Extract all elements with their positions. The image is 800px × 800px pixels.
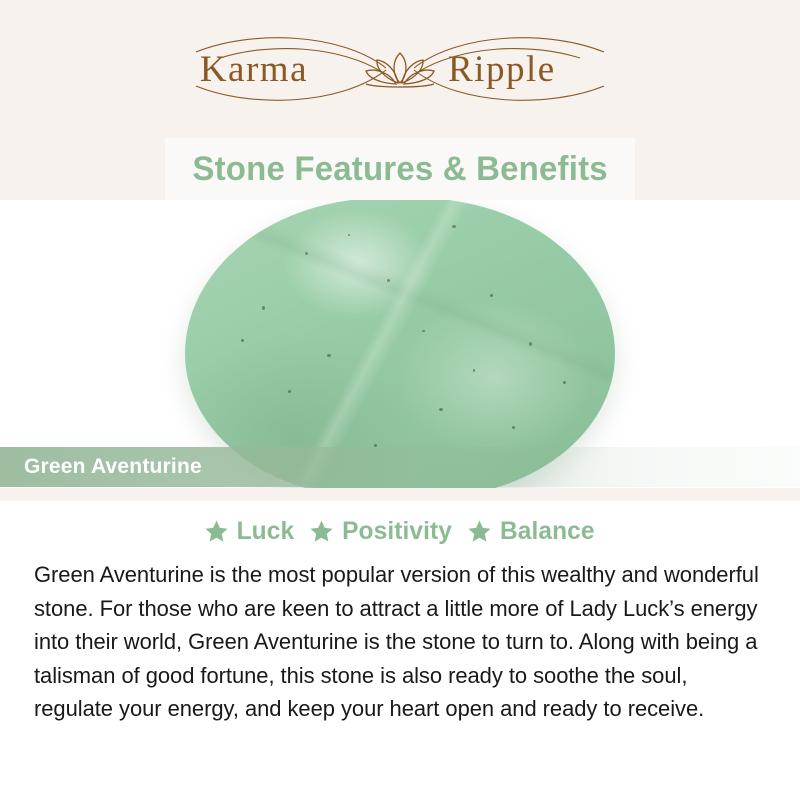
feature-item-positivity: Positivity bbox=[309, 517, 453, 546]
feature-label: Balance bbox=[500, 517, 595, 546]
brand-logo: Karma Ripple bbox=[0, 28, 800, 110]
star-icon bbox=[467, 519, 492, 544]
brand-logo-artwork: Karma Ripple bbox=[190, 28, 610, 110]
brand-name-right: Ripple bbox=[448, 49, 556, 90]
product-photo bbox=[0, 200, 800, 488]
aventurine-stone-image bbox=[185, 200, 615, 488]
feature-item-balance: Balance bbox=[467, 517, 596, 546]
feature-item-luck: Luck bbox=[204, 517, 295, 546]
feature-label: Luck bbox=[237, 517, 295, 546]
page-title-box: Stone Features & Benefits bbox=[165, 138, 635, 200]
star-icon bbox=[204, 519, 229, 544]
section-divider bbox=[0, 488, 800, 501]
brand-name-left: Karma bbox=[200, 49, 308, 90]
stone-description: Green Aventurine is the most popular ver… bbox=[34, 558, 765, 726]
star-icon bbox=[309, 519, 334, 544]
stone-info-card: Karma Ripple Stone Features & Benefits bbox=[0, 0, 800, 800]
page-title: Stone Features & Benefits bbox=[192, 150, 607, 189]
stone-name: Green Aventurine bbox=[0, 455, 202, 479]
feature-label: Positivity bbox=[342, 517, 452, 546]
feature-list: Luck Positivity Balance bbox=[0, 517, 800, 546]
stone-name-banner: Green Aventurine bbox=[0, 447, 800, 487]
description-panel: Luck Positivity Balance Green Aventurine… bbox=[0, 501, 800, 800]
header-band: Karma Ripple Stone Features & Benefits bbox=[0, 0, 800, 200]
product-photo-backdrop bbox=[0, 200, 800, 488]
